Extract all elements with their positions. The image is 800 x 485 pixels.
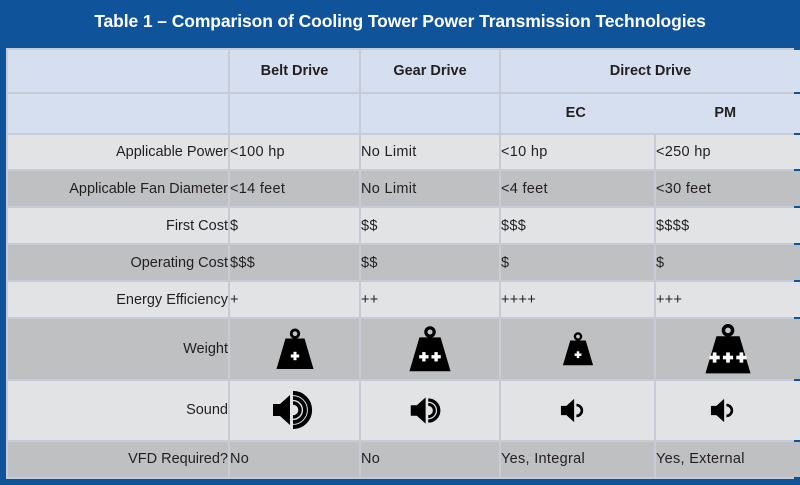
row-label: Applicable Fan Diameter: [8, 171, 228, 206]
header-belt-drive: Belt Drive: [230, 50, 359, 92]
subheader-pm: PM: [651, 105, 800, 121]
row-label: Weight: [8, 319, 228, 378]
table-row: Operating Cost$$$$$$$: [8, 245, 800, 280]
header-direct-drive: Direct Drive: [501, 50, 800, 92]
row-value: $: [656, 245, 800, 280]
header-gear-drive: Gear Drive: [361, 50, 499, 92]
row-label: First Cost: [8, 208, 228, 243]
subheader-direct-drive-types: EC PM: [501, 94, 800, 132]
weight-icon: [656, 319, 800, 378]
speaker-icon: [501, 381, 654, 440]
row-value: <30 feet: [656, 171, 800, 206]
row-value: No: [361, 442, 499, 477]
table-row: Sound: [8, 381, 800, 440]
table-row: First Cost$$$$$$$$$$: [8, 208, 800, 243]
row-label: VFD Required?: [8, 442, 228, 477]
row-value: $$$: [230, 245, 359, 280]
comparison-table: Belt Drive Gear Drive Direct Drive EC PM: [6, 48, 800, 479]
row-value: +: [230, 282, 359, 317]
comparison-table-container: Belt Drive Gear Drive Direct Drive EC PM: [6, 48, 794, 479]
weight-icon: [230, 319, 359, 378]
row-value: <100 hp: [230, 135, 359, 170]
speaker-icon: [361, 381, 499, 440]
row-value: <4 feet: [501, 171, 654, 206]
header-corner-cell: [8, 50, 228, 92]
table-row: Energy Efficiency++++++++++: [8, 282, 800, 317]
table-row: Weight: [8, 319, 800, 378]
row-label: Sound: [8, 381, 228, 440]
row-value: Yes, External: [656, 442, 800, 477]
row-value: No Limit: [361, 171, 499, 206]
row-value: +++: [656, 282, 800, 317]
row-label: Applicable Power: [8, 135, 228, 170]
subheader-ec: EC: [501, 105, 651, 121]
page-title: Table 1 – Comparison of Cooling Tower Po…: [94, 11, 706, 32]
row-value: No Limit: [361, 135, 499, 170]
row-value: $: [501, 245, 654, 280]
row-value: Yes, Integral: [501, 442, 654, 477]
row-value: $$: [361, 245, 499, 280]
row-value: <14 feet: [230, 171, 359, 206]
table-header-row: Belt Drive Gear Drive Direct Drive: [8, 50, 800, 92]
speaker-icon: [230, 381, 359, 440]
row-value: <10 hp: [501, 135, 654, 170]
table-row: Applicable Power<100 hpNo Limit<10 hp<25…: [8, 135, 800, 170]
table-subheader-row: EC PM: [8, 94, 800, 132]
weight-icon: [361, 319, 499, 378]
speaker-icon: [656, 381, 800, 440]
row-value: $$: [361, 208, 499, 243]
figure-title-bar: Table 1 – Comparison of Cooling Tower Po…: [0, 0, 800, 42]
weight-icon: [501, 319, 654, 378]
row-label: Energy Efficiency: [8, 282, 228, 317]
row-label: Operating Cost: [8, 245, 228, 280]
row-value: $: [230, 208, 359, 243]
subheader-corner-cell: [8, 94, 228, 132]
row-value: No: [230, 442, 359, 477]
row-value: ++++: [501, 282, 654, 317]
subheader-gear-blank: [361, 94, 499, 132]
row-value: ++: [361, 282, 499, 317]
table-figure: Table 1 – Comparison of Cooling Tower Po…: [0, 0, 800, 485]
table-row: VFD Required?NoNoYes, IntegralYes, Exter…: [8, 442, 800, 477]
row-value: $$$$: [656, 208, 800, 243]
row-value: <250 hp: [656, 135, 800, 170]
subheader-belt-blank: [230, 94, 359, 132]
table-row: Applicable Fan Diameter<14 feetNo Limit<…: [8, 171, 800, 206]
row-value: $$$: [501, 208, 654, 243]
